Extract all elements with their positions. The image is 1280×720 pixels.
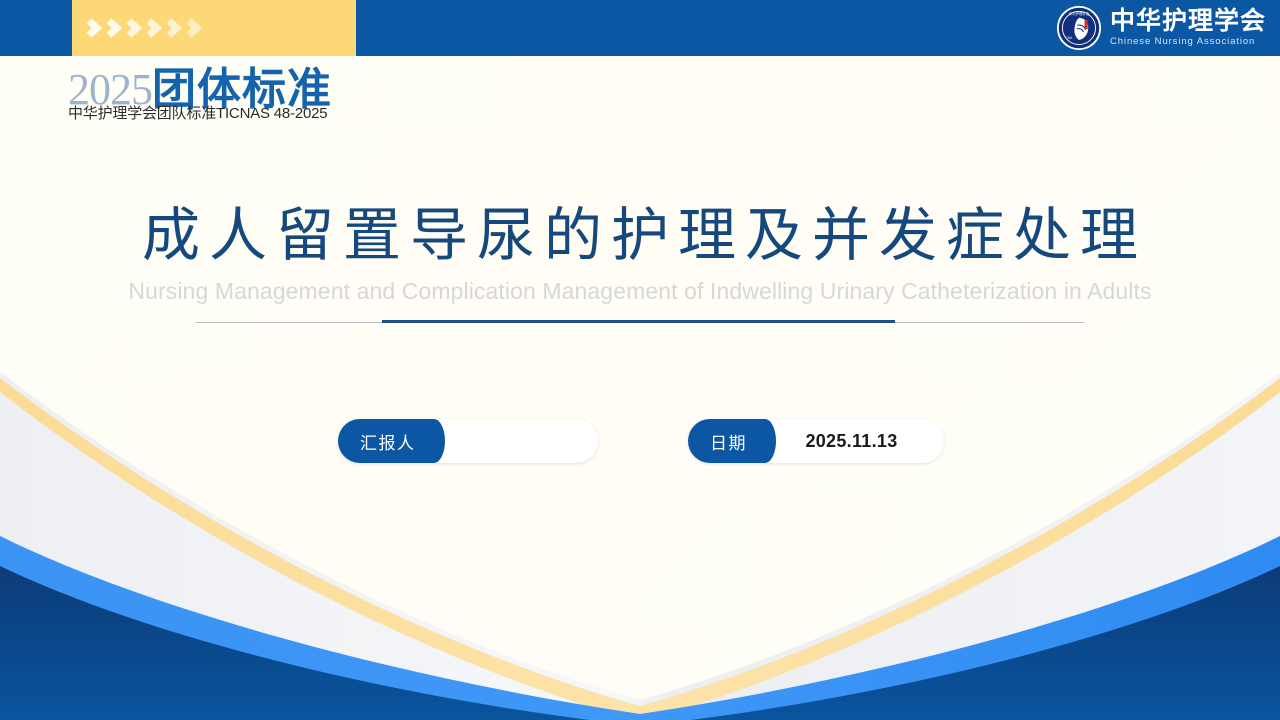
chevron-arrow-group	[86, 16, 216, 40]
logo-name-en: Chinese Nursing Association	[1110, 37, 1266, 47]
nursing-association-emblem-icon: 中华护理学会 CNA	[1056, 5, 1102, 51]
wave-bright-blue-layer	[0, 536, 1280, 720]
logo-text-block: 中华护理学会 Chinese Nursing Association	[1110, 9, 1266, 47]
svg-text:中华护理学会: 中华护理学会	[1069, 11, 1090, 16]
page-title: 成人留置导尿的护理及并发症处理	[0, 198, 1280, 274]
wave-grey-layer	[0, 372, 1280, 720]
date-value[interactable]: 2025.11.13	[769, 431, 944, 452]
date-field[interactable]: 日期 2025.11.13	[688, 419, 944, 463]
association-logo: 中华护理学会 CNA 中华护理学会 Chinese Nursing Associ…	[1056, 2, 1266, 54]
svg-text:CNA: CNA	[1065, 36, 1073, 40]
slide-header-band: 中华护理学会 CNA 中华护理学会 Chinese Nursing Associ…	[0, 0, 1280, 56]
logo-name-cn: 中华护理学会	[1110, 9, 1266, 34]
standard-badge-block: 2025团体标准 中华护理学会团队标准TICNAS 48-2025	[68, 66, 488, 123]
page-subtitle: Nursing Management and Complication Mana…	[0, 276, 1280, 306]
date-label: 日期	[688, 419, 769, 463]
presenter-label: 汇报人	[338, 419, 438, 463]
presenter-field[interactable]: 汇报人	[338, 419, 598, 463]
standard-reference: 中华护理学会团队标准TICNAS 48-2025	[68, 102, 488, 123]
chevron-right-icon	[86, 16, 216, 40]
title-rule-accent	[382, 320, 895, 323]
wave-gold-ribbon	[0, 378, 1280, 720]
wave-deep-blue-layer	[0, 566, 1280, 720]
title-block: 成人留置导尿的护理及并发症处理 Nursing Management and C…	[0, 198, 1280, 306]
presentation-slide: 中华护理学会 CNA 中华护理学会 Chinese Nursing Associ…	[0, 0, 1280, 720]
